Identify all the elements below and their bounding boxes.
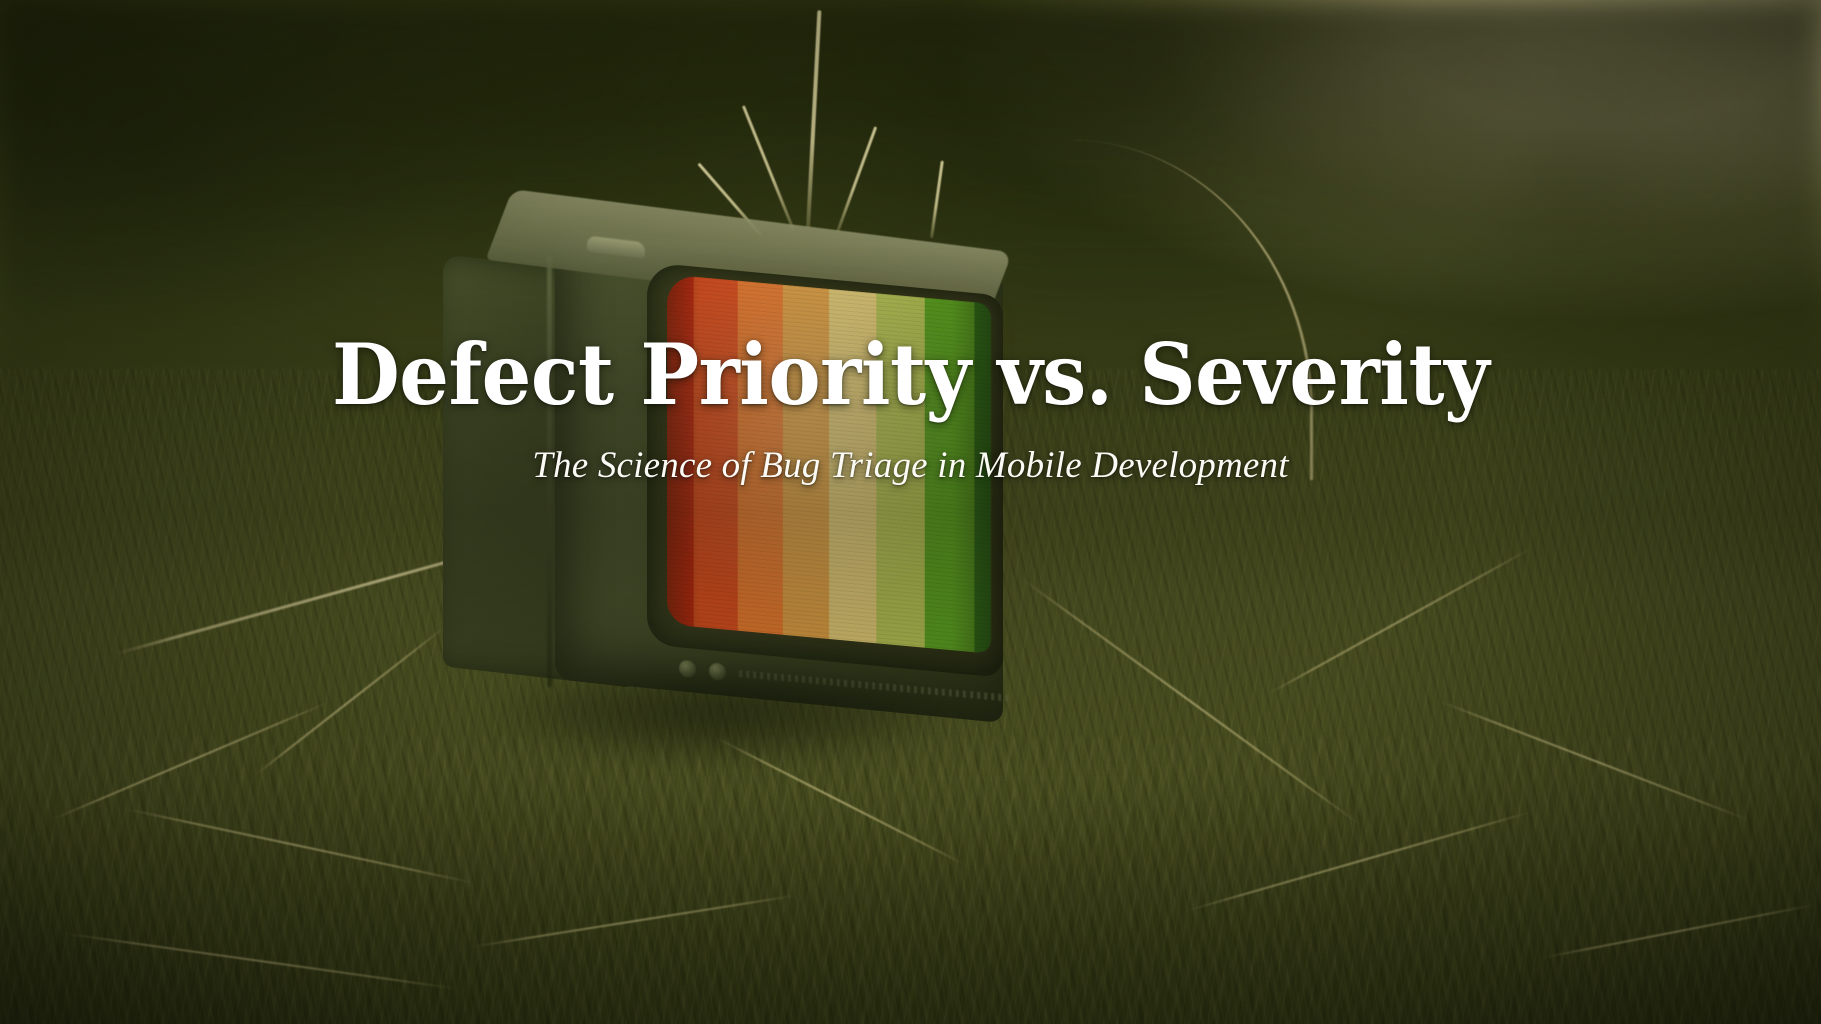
page-subtitle: The Science of Bug Triage in Mobile Deve… xyxy=(60,444,1761,488)
page-title: Defect Priority vs. Severity xyxy=(120,332,1702,418)
title-text-block: Defect Priority vs. Severity The Science… xyxy=(0,332,1821,488)
background-photograph xyxy=(0,0,1821,1024)
film-grain-overlay xyxy=(0,0,1821,1024)
title-slide: Defect Priority vs. Severity The Science… xyxy=(0,0,1821,1024)
